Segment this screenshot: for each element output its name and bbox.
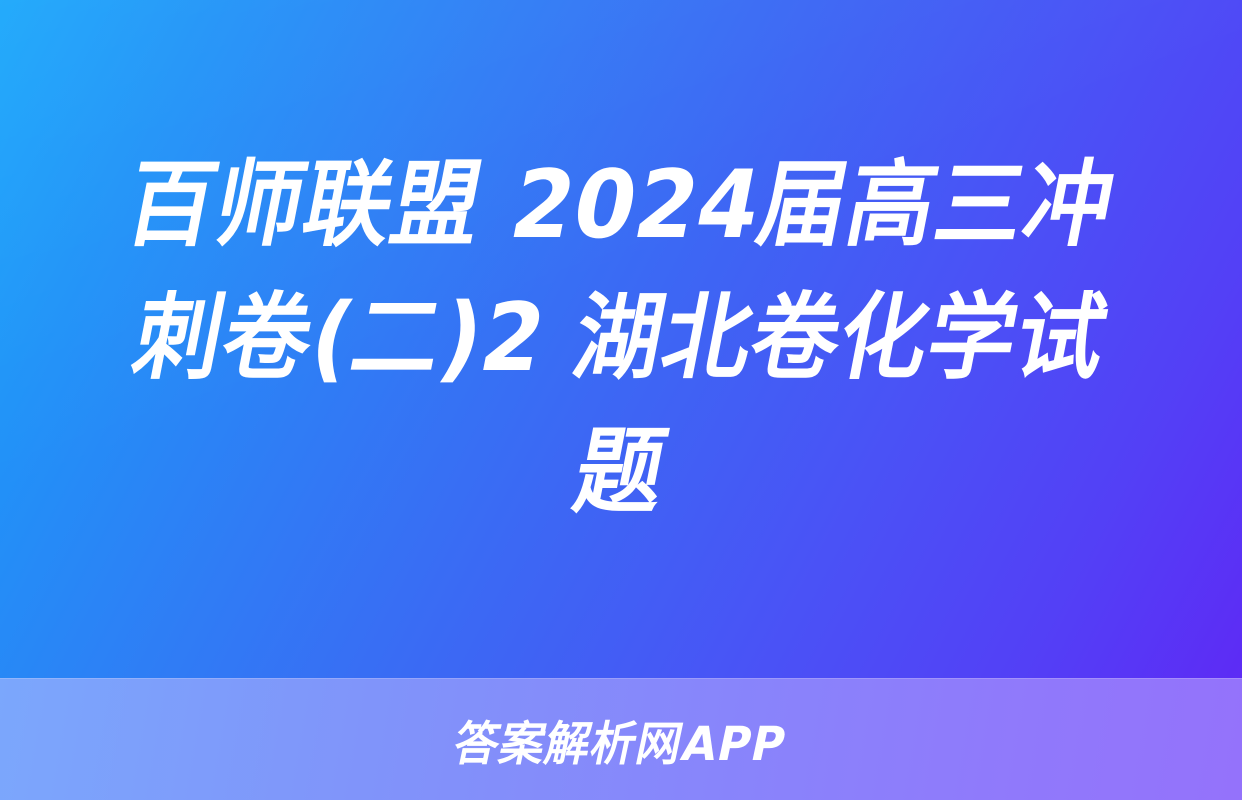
title-line-1: 百师联盟 2024届高三冲 — [115, 139, 1126, 272]
gradient-hero-panel: 百师联盟 2024届高三冲 刺卷(二)2 湖北卷化学试 题 — [0, 0, 1242, 678]
watermark-band: 答案解析网APP — [0, 678, 1242, 800]
title-block: 百师联盟 2024届高三冲 刺卷(二)2 湖北卷化学试 题 — [0, 0, 1242, 678]
title-line-3: 题 — [564, 406, 678, 539]
title-line-2: 刺卷(二)2 湖北卷化学试 — [123, 272, 1119, 405]
poster-canvas: 百师联盟 2024届高三冲 刺卷(二)2 湖北卷化学试 题 答案解析网APP — [0, 0, 1242, 800]
watermark-text: 答案解析网APP — [448, 705, 794, 774]
